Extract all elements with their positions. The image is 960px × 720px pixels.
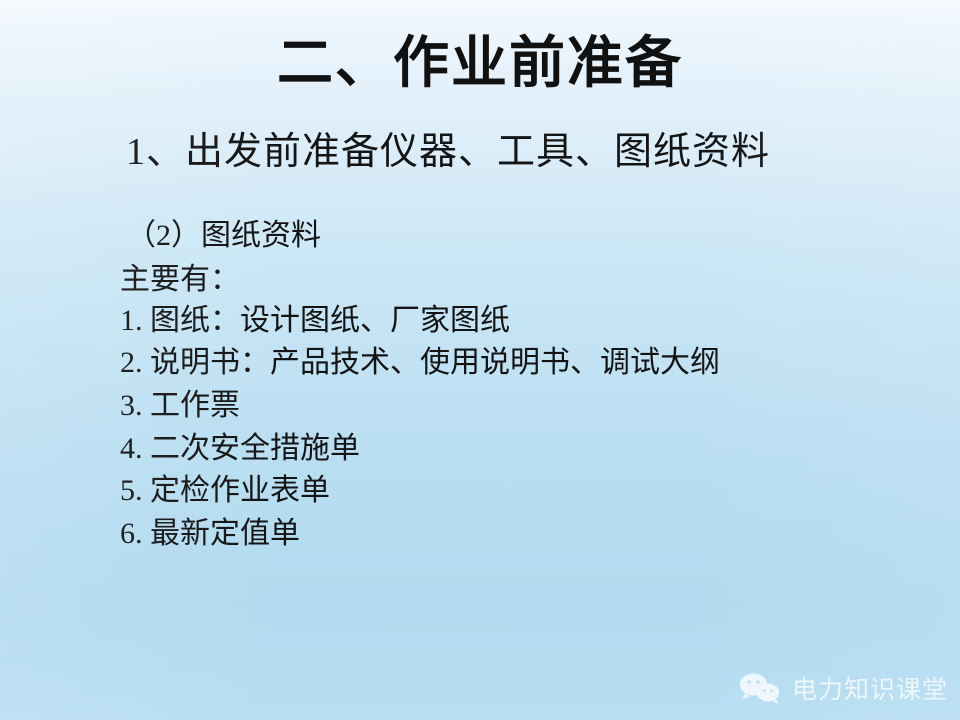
section-label: （2）图纸资料 xyxy=(126,216,900,256)
list-item-number: 4. xyxy=(120,428,150,471)
list-item-number: 5. xyxy=(120,470,150,513)
list-item: 2. 说明书：产品技术、使用说明书、调试大纲 xyxy=(120,342,900,385)
page-title: 二、作业前准备 xyxy=(0,32,960,96)
list-item-number: 6. xyxy=(120,513,150,556)
list-item-label: 工作票 xyxy=(150,385,240,428)
slide-canvas: 二、作业前准备 1、出发前准备仪器、工具、图纸资料 （2）图纸资料 主要有： 1… xyxy=(0,0,960,720)
list-item: 1. 图纸：设计图纸、厂家图纸 xyxy=(120,300,900,343)
list-item: 6. 最新定值单 xyxy=(120,513,900,556)
lead-in-text: 主要有： xyxy=(120,260,900,300)
list-item-label: 二次安全措施单 xyxy=(150,428,360,471)
list-item-label: 最新定值单 xyxy=(150,513,300,556)
list-item: 3. 工作票 xyxy=(120,385,900,428)
list-item-label: 说明书：产品技术、使用说明书、调试大纲 xyxy=(150,342,720,385)
document-list: 1. 图纸：设计图纸、厂家图纸 2. 说明书：产品技术、使用说明书、调试大纲 3… xyxy=(120,300,900,556)
list-item: 5. 定检作业表单 xyxy=(120,470,900,513)
list-item-number: 3. xyxy=(120,385,150,428)
wechat-icon xyxy=(738,671,784,705)
list-item: 4. 二次安全措施单 xyxy=(120,428,900,471)
watermark-label: 电力知识课堂 xyxy=(792,670,948,706)
body-content: （2）图纸资料 主要有： 1. 图纸：设计图纸、厂家图纸 2. 说明书：产品技术… xyxy=(120,216,900,555)
slide-subtitle: 1、出发前准备仪器、工具、图纸资料 xyxy=(126,130,770,176)
watermark: 电力知识课堂 xyxy=(738,670,948,706)
list-item-number: 1. xyxy=(120,300,150,343)
list-item-label: 定检作业表单 xyxy=(150,470,330,513)
list-item-number: 2. xyxy=(120,342,150,385)
list-item-label: 图纸：设计图纸、厂家图纸 xyxy=(150,300,510,343)
